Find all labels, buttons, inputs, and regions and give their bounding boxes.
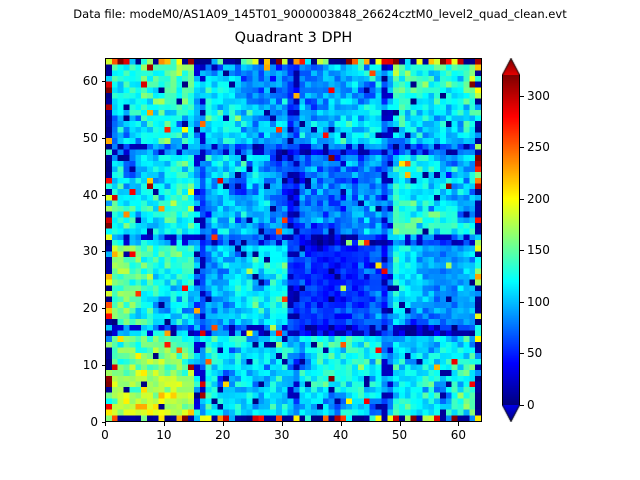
x-tick-label: 10 (144, 428, 184, 442)
y-tick-label: 0 (58, 414, 98, 430)
y-tick-label: 10 (58, 357, 98, 373)
y-tick-label: 40 (58, 187, 98, 203)
y-tick-mark (102, 422, 106, 423)
y-tick-label: 20 (58, 300, 98, 316)
figure-suptitle: Data file: modeM0/AS1A09_145T01_90000038… (0, 7, 640, 21)
colorbar-tick-mark (520, 147, 524, 148)
y-tick-label: 60 (58, 73, 98, 89)
colorbar-tick-mark (520, 302, 524, 303)
colorbar-gradient[interactable] (502, 75, 520, 405)
colorbar-tick-mark (520, 199, 524, 200)
y-tick-mark (102, 138, 106, 139)
x-tick-mark (164, 422, 165, 426)
y-tick-label: 30 (58, 243, 98, 259)
colorbar-tick-label: 0 (527, 397, 535, 413)
colorbar-tick-mark (520, 405, 524, 406)
x-tick-label: 50 (380, 428, 420, 442)
y-tick-mark (102, 251, 106, 252)
colorbar[interactable] (502, 58, 520, 422)
x-tick-label: 40 (321, 428, 361, 442)
colorbar-tick-mark (520, 353, 524, 354)
axes-title: Quadrant 3 DPH (0, 30, 587, 46)
x-tick-mark (341, 422, 342, 426)
x-tick-label: 30 (262, 428, 302, 442)
x-tick-mark (223, 422, 224, 426)
y-tick-mark (102, 195, 106, 196)
colorbar-min-extend-arrow-icon (502, 405, 520, 422)
heatmap-axes[interactable] (105, 58, 482, 422)
colorbar-tick-label: 150 (527, 242, 550, 258)
y-tick-label: 50 (58, 130, 98, 146)
x-tick-label: 20 (203, 428, 243, 442)
y-tick-mark (102, 308, 106, 309)
x-tick-mark (400, 422, 401, 426)
matplotlib-figure: Data file: modeM0/AS1A09_145T01_90000038… (0, 0, 640, 480)
x-tick-mark (105, 422, 106, 426)
heatmap-image[interactable] (106, 59, 481, 421)
colorbar-tick-label: 50 (527, 345, 542, 361)
colorbar-max-extend-arrow-icon (502, 58, 520, 75)
colorbar-tick-mark (520, 250, 524, 251)
colorbar-tick-label: 200 (527, 191, 550, 207)
colorbar-tick-mark (520, 96, 524, 97)
x-tick-label: 60 (438, 428, 478, 442)
colorbar-tick-label: 300 (527, 88, 550, 104)
y-tick-mark (102, 81, 106, 82)
x-tick-label: 0 (85, 428, 125, 442)
x-tick-mark (458, 422, 459, 426)
colorbar-tick-label: 100 (527, 294, 550, 310)
colorbar-tick-label: 250 (527, 139, 550, 155)
y-tick-mark (102, 365, 106, 366)
x-tick-mark (282, 422, 283, 426)
